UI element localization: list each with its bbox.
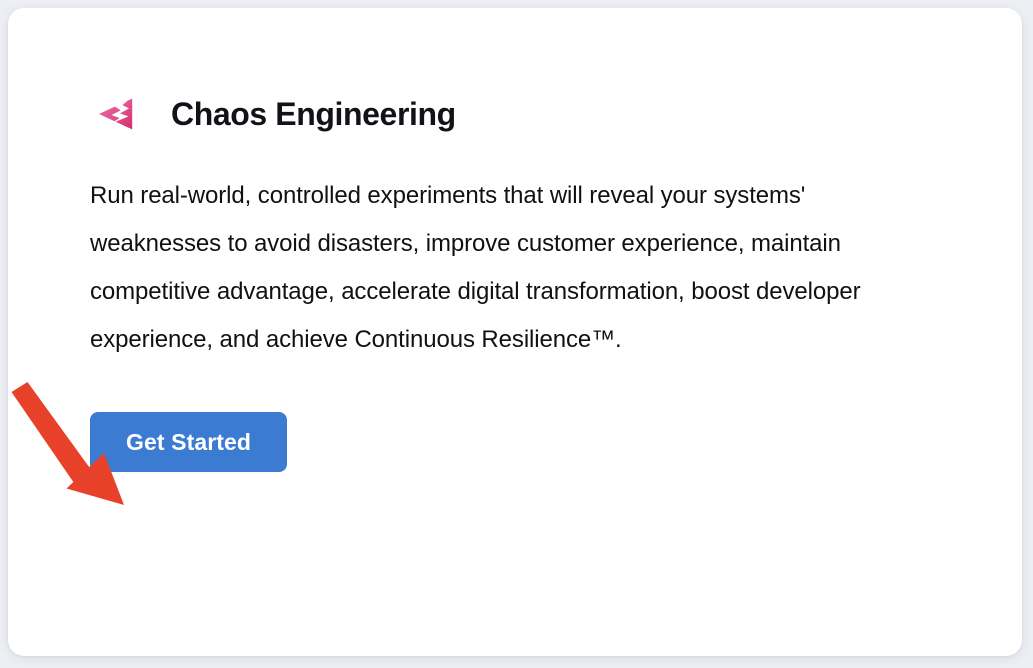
gremlin-logo-icon: [96, 94, 136, 134]
chaos-engineering-card: Chaos Engineering Run real-world, contro…: [8, 8, 1022, 656]
screenshot-stage: Chaos Engineering Run real-world, contro…: [0, 0, 1033, 668]
card-content: Chaos Engineering Run real-world, contro…: [90, 86, 950, 472]
cta-container: Get Started: [90, 412, 950, 472]
card-description: Run real-world, controlled experiments t…: [90, 172, 930, 364]
card-header: Chaos Engineering: [90, 86, 950, 142]
page-title: Chaos Engineering: [171, 94, 456, 134]
get-started-button[interactable]: Get Started: [90, 412, 287, 472]
